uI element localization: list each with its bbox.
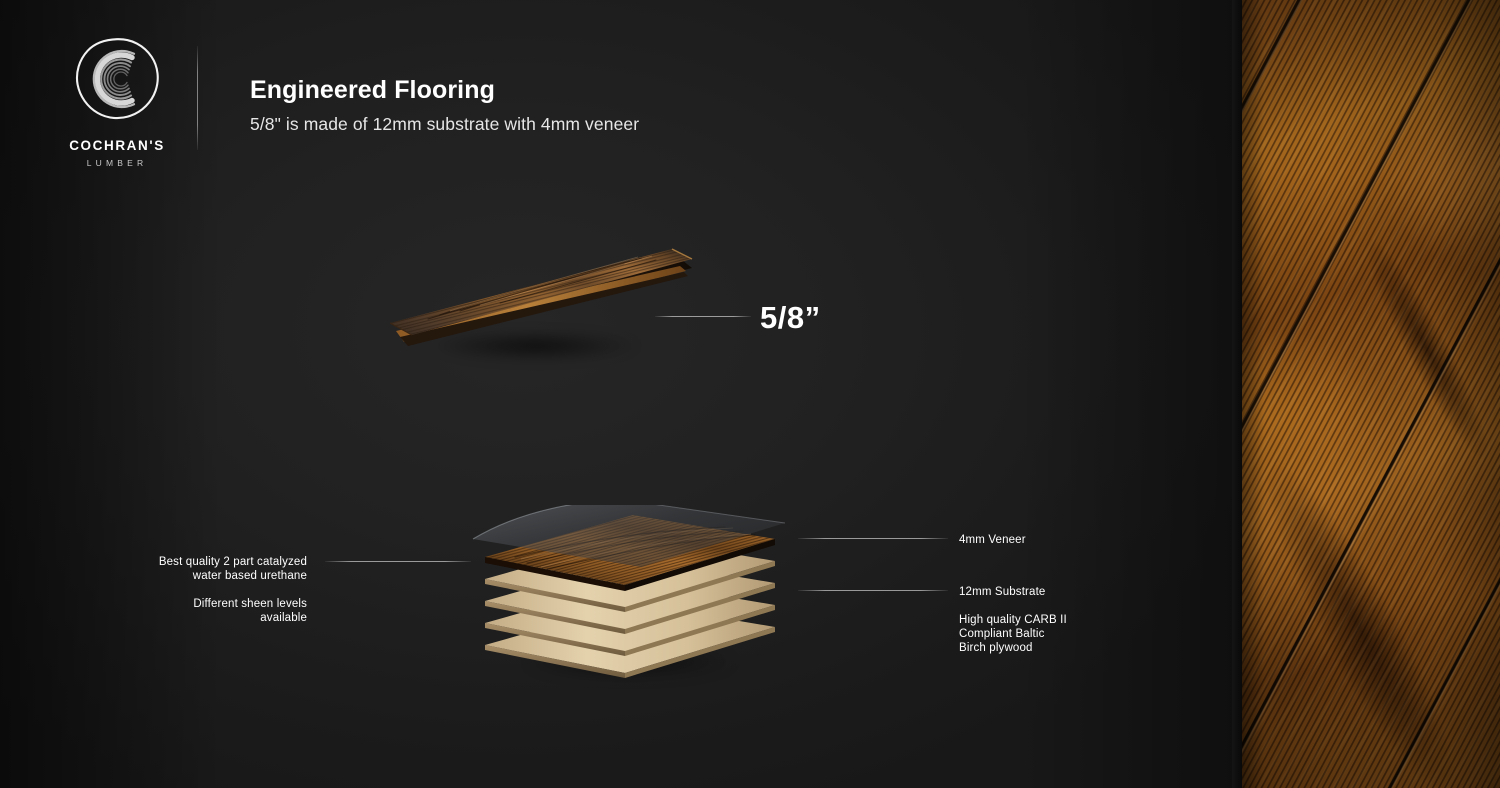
callout-urethane: Best quality 2 part catalyzed water base… [153,555,307,583]
page-title: Engineered Flooring [250,76,639,105]
infographic-canvas: COCHRAN'S LUMBER Engineered Flooring 5/8… [0,0,1500,788]
callout-plywood: High quality CARB II Compliant Baltic Bi… [959,613,1067,655]
callout-plywood-line3: Birch plywood [959,641,1067,655]
callout-substrate: 12mm Substrate [959,585,1045,599]
header-divider [197,46,198,150]
callout-veneer: 4mm Veneer [959,533,1026,547]
leader-line-veneer [798,538,948,539]
brand-name: COCHRAN'S [52,138,182,153]
engineered-flooring-plank-illustration [380,245,700,380]
callout-urethane-line2: water based urethane [153,569,307,583]
hardwood-floor-photo [1238,0,1500,788]
panel-divider-edge [1232,0,1242,788]
header-text-block: Engineered Flooring 5/8" is made of 12mm… [250,76,639,135]
leader-line-substrate [798,590,948,591]
callout-sheen: Different sheen levels available [153,597,307,625]
brand-tagline: LUMBER [52,158,182,168]
leader-line-thickness [655,316,751,317]
callout-urethane-line1: Best quality 2 part catalyzed [153,555,307,569]
wood-photo-vignette [1238,0,1500,788]
callout-plywood-line2: Compliant Baltic [959,627,1067,641]
callout-plywood-line1: High quality CARB II [959,613,1067,627]
thickness-label: 5/8” [760,300,821,336]
leader-line-urethane [325,561,471,562]
exploded-layer-stack-illustration [455,505,805,690]
page-subtitle: 5/8" is made of 12mm substrate with 4mm … [250,114,639,135]
brand-lockup: COCHRAN'S LUMBER [52,36,182,168]
cochrans-logo-icon [74,36,160,122]
